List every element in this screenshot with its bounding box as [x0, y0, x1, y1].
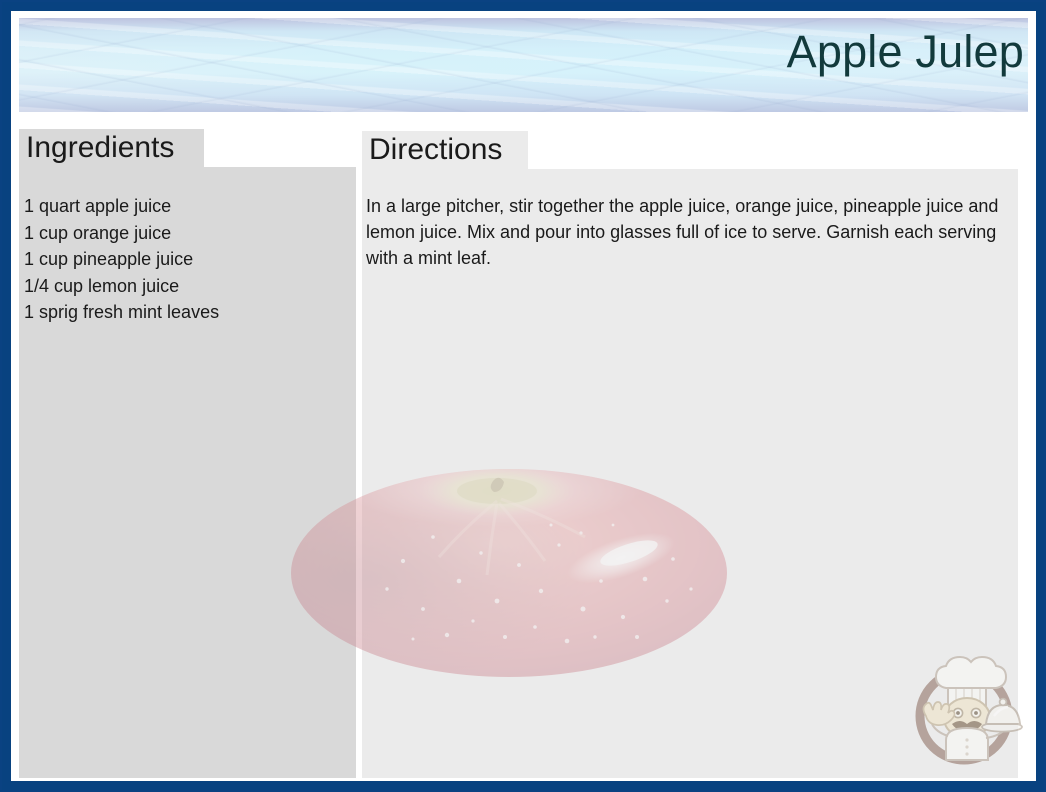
directions-text: In a large pitcher, stir together the ap…	[366, 193, 1018, 271]
list-item: 1/4 cup lemon juice	[24, 273, 344, 300]
ingredients-heading: Ingredients	[26, 131, 174, 165]
page-title: Apple Julep	[787, 26, 1024, 78]
list-item: 1 cup pineapple juice	[24, 246, 344, 273]
directions-heading: Directions	[369, 133, 502, 167]
list-item: 1 quart apple juice	[24, 193, 344, 220]
recipe-card: Apple Julep Ingredients 1 quart apple ju…	[0, 0, 1046, 792]
ingredients-list: 1 quart apple juice 1 cup orange juice 1…	[24, 193, 344, 326]
list-item: 1 cup orange juice	[24, 220, 344, 247]
list-item: 1 sprig fresh mint leaves	[24, 299, 344, 326]
